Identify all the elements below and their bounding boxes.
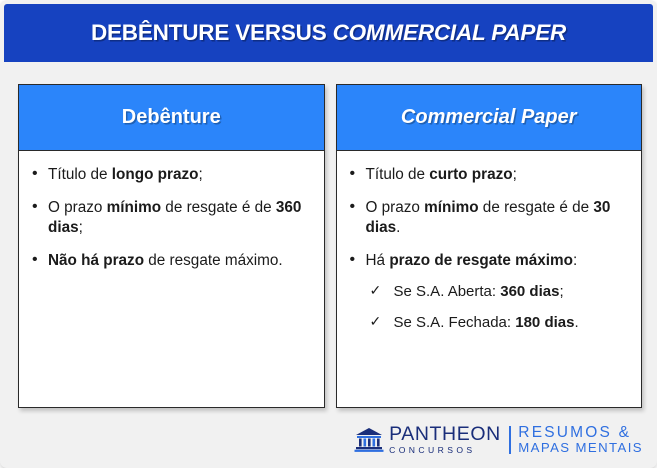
list-item: O prazo mínimo de resgate é de 30 dias. <box>347 198 630 238</box>
list-item: Não há prazo de resgate máximo. <box>29 251 312 271</box>
plain-text: ; <box>559 283 563 300</box>
logo-divider <box>509 426 512 454</box>
column-header-label: Commercial Paper <box>401 106 577 129</box>
comparison-columns: Debênture Título de longo prazo;O prazo … <box>18 84 642 408</box>
plain-text: : <box>573 252 577 269</box>
plain-text: de resgate é de <box>479 199 594 216</box>
emphasis-text: 180 dias <box>515 314 574 331</box>
list-item-text: Título de longo prazo; <box>48 166 203 183</box>
plain-text: Título de <box>48 166 112 183</box>
emphasis-text: Não há prazo <box>48 252 144 269</box>
list-item-text: Há prazo de resgate máximo: <box>366 252 578 269</box>
brand-logo: PANTHEON CONCURSOS RESUMOS & MAPAS MENTA… <box>354 423 643 457</box>
plain-text: ; <box>513 166 517 183</box>
plain-text: O prazo <box>366 199 425 216</box>
plain-text: . <box>574 314 578 331</box>
column-header-debenture: Debênture <box>19 85 324 151</box>
logo-concursos-text: CONCURSOS <box>389 446 501 455</box>
plain-text: . <box>396 219 400 236</box>
slide-container: DEBÊNTURE VERSUS COMMERCIAL PAPER Debênt… <box>0 0 657 468</box>
column-commercial-paper: Commercial Paper Título de curto prazo;O… <box>336 84 643 408</box>
list-item-text: Título de curto prazo; <box>366 166 517 183</box>
sub-list: ✓Se S.A. Aberta: 360 dias;✓Se S.A. Fecha… <box>366 282 630 332</box>
column-body-commercial-paper: Título de curto prazo;O prazo mínimo de … <box>337 151 642 407</box>
emphasis-text: longo prazo <box>112 166 199 183</box>
emphasis-text: 360 dias <box>500 283 559 300</box>
title-banner: DEBÊNTURE VERSUS COMMERCIAL PAPER <box>4 4 653 62</box>
column-header-commercial-paper: Commercial Paper <box>337 85 642 151</box>
logo-pantheon-text: PANTHEON <box>389 425 501 445</box>
plain-text: O prazo <box>48 199 107 216</box>
sub-list-item: ✓Se S.A. Fechada: 180 dias. <box>366 313 630 332</box>
column-header-label: Debênture <box>122 106 221 129</box>
bullet-list-commercial-paper: Título de curto prazo;O prazo mínimo de … <box>347 165 630 332</box>
check-icon: ✓ <box>370 313 382 331</box>
plain-text: Se S.A. Fechada: <box>394 314 516 331</box>
list-item: O prazo mínimo de resgate é de 360 dias; <box>29 198 312 238</box>
sub-list-item-text: Se S.A. Fechada: 180 dias. <box>394 314 579 331</box>
list-item: Há prazo de resgate máximo:✓Se S.A. Aber… <box>347 251 630 332</box>
list-item: Título de longo prazo; <box>29 165 312 185</box>
plain-text: de resgate é de <box>161 199 276 216</box>
title-italic-text: COMMERCIAL PAPER <box>333 20 566 45</box>
logo-tagline: RESUMOS & MAPAS MENTAIS <box>518 425 643 456</box>
logo-mapas-text: MAPAS MENTAIS <box>518 441 643 455</box>
list-item-text: O prazo mínimo de resgate é de 30 dias. <box>366 199 611 236</box>
plain-text: Há <box>366 252 390 269</box>
bullet-list-debenture: Título de longo prazo;O prazo mínimo de … <box>29 165 312 271</box>
column-body-debenture: Título de longo prazo;O prazo mínimo de … <box>19 151 324 407</box>
column-debenture: Debênture Título de longo prazo;O prazo … <box>18 84 325 408</box>
list-item: Título de curto prazo; <box>347 165 630 185</box>
list-item-text: Não há prazo de resgate máximo. <box>48 252 283 269</box>
list-item-text: O prazo mínimo de resgate é de 360 dias; <box>48 199 301 236</box>
plain-text: de resgate máximo. <box>144 252 283 269</box>
classical-temple-icon <box>354 427 384 453</box>
emphasis-text: curto prazo <box>429 166 512 183</box>
emphasis-text: prazo de resgate máximo <box>389 252 573 269</box>
sub-list-item: ✓Se S.A. Aberta: 360 dias; <box>366 282 630 301</box>
emphasis-text: mínimo <box>424 199 478 216</box>
plain-text: Se S.A. Aberta: <box>394 283 501 300</box>
plain-text: ; <box>79 219 83 236</box>
plain-text: Título de <box>366 166 430 183</box>
title-main-text: DEBÊNTURE VERSUS <box>91 20 333 45</box>
sub-list-item-text: Se S.A. Aberta: 360 dias; <box>394 283 564 300</box>
check-icon: ✓ <box>370 282 382 300</box>
emphasis-text: mínimo <box>107 199 161 216</box>
plain-text: ; <box>198 166 202 183</box>
logo-wordmark: PANTHEON CONCURSOS <box>389 425 501 454</box>
page-title: DEBÊNTURE VERSUS COMMERCIAL PAPER <box>91 20 566 46</box>
logo-resumos-text: RESUMOS & <box>518 425 643 442</box>
